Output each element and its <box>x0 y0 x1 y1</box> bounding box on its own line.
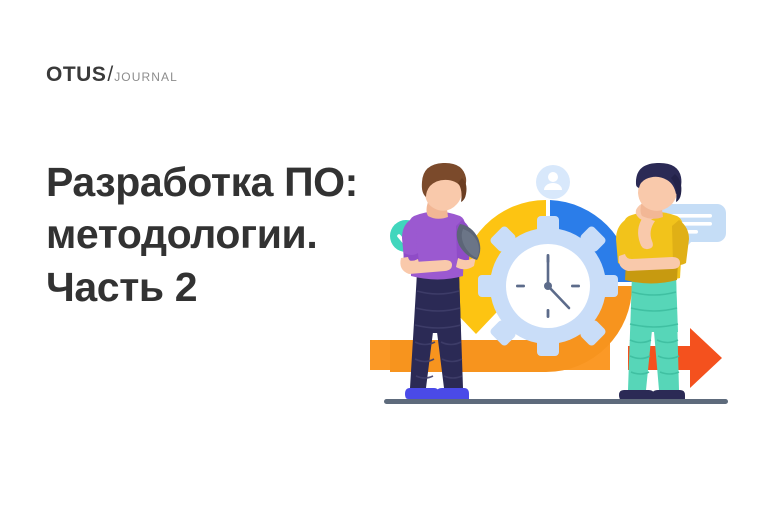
brand-slash: / <box>107 64 113 85</box>
person-left-shoes <box>405 388 469 399</box>
ground-line <box>384 399 728 404</box>
gear-clock-icon <box>478 216 618 356</box>
otus-journal-logo[interactable]: OTUS / JOURNAL <box>46 64 178 85</box>
person-right-shoes <box>619 390 685 400</box>
brand-name: OTUS <box>46 64 106 85</box>
user-icon <box>536 165 570 199</box>
brand-subtitle: JOURNAL <box>114 71 178 83</box>
hero-illustration <box>370 158 742 414</box>
clock-center-pin <box>544 282 552 290</box>
person-left-head <box>422 163 467 219</box>
article-cover: OTUS / JOURNAL Разработка ПО: методологи… <box>0 0 770 515</box>
illustration-canvas <box>370 158 742 414</box>
person-right-pants <box>628 276 679 390</box>
